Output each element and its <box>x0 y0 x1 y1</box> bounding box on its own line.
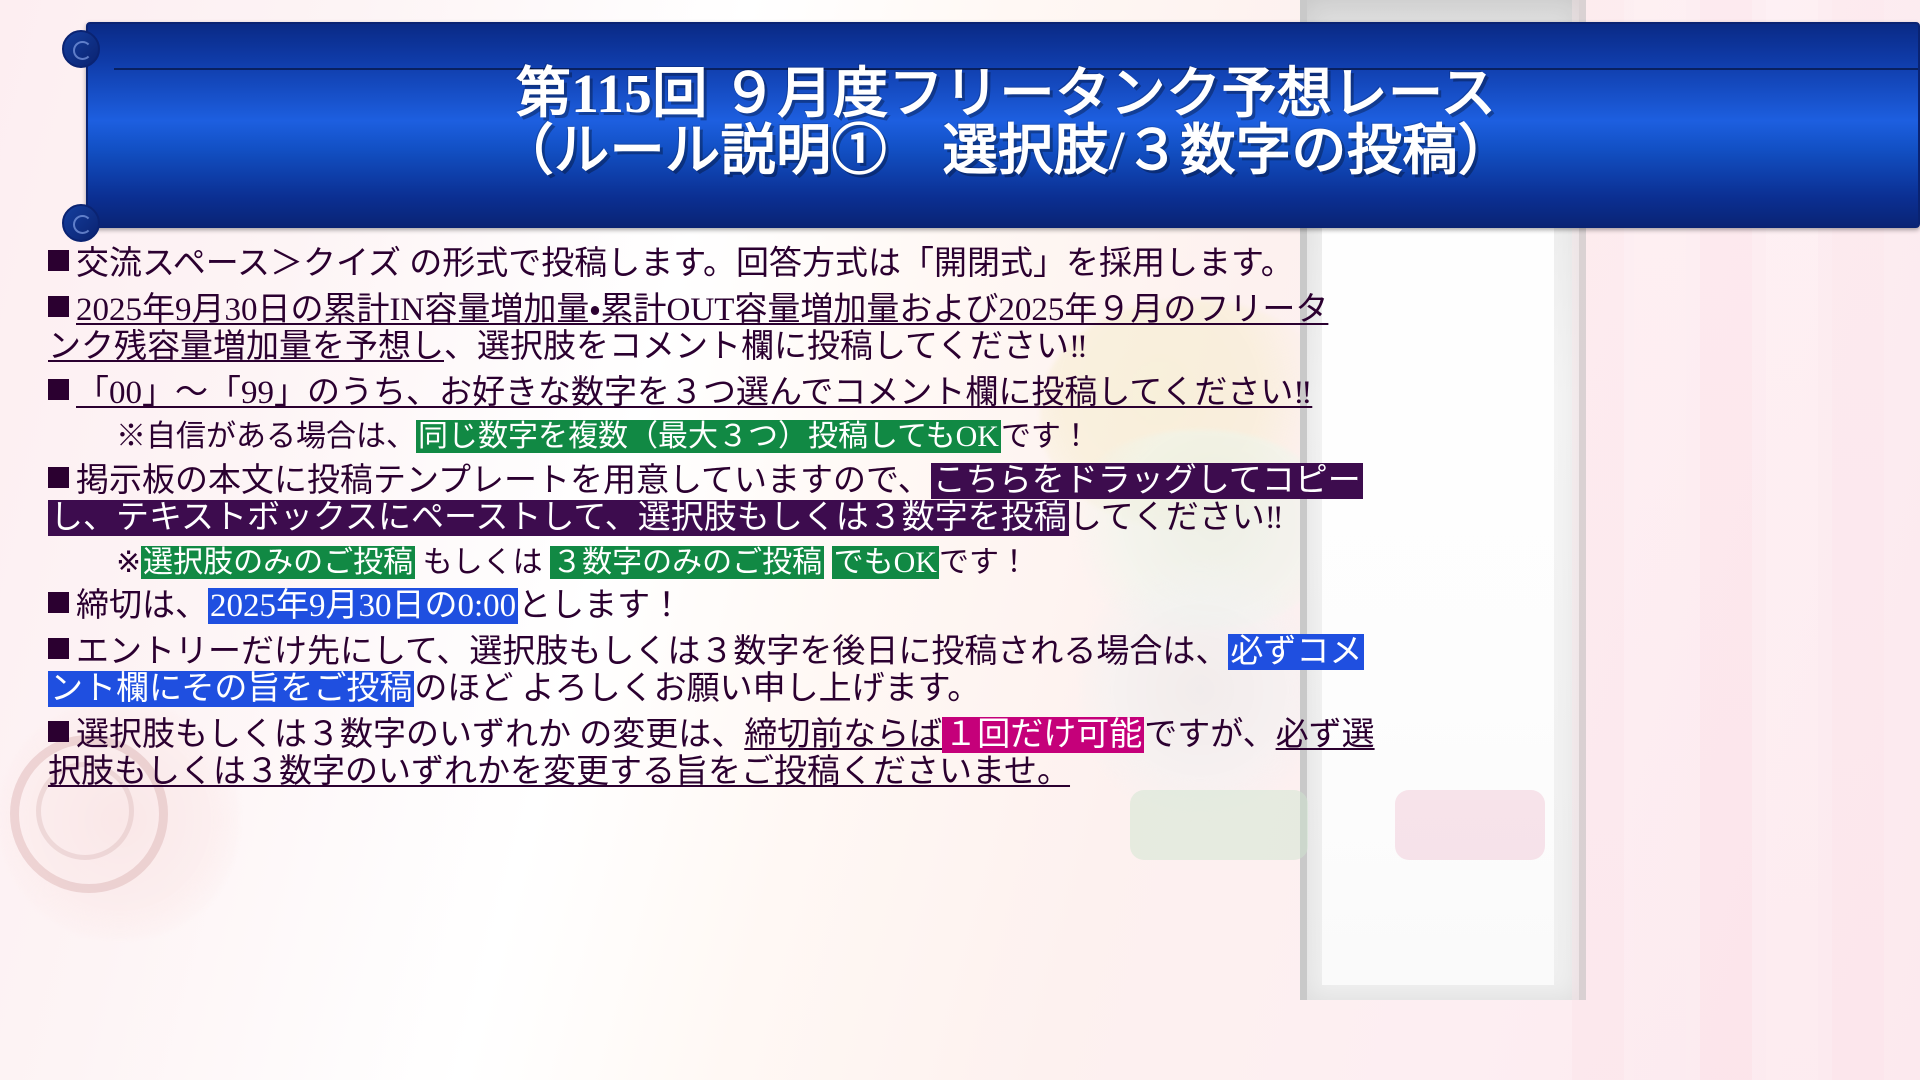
bullet-format: 交流スペース＞クイズ の形式で投稿します。回答方式は「開閉式」を採用します。 <box>0 246 1920 284</box>
bullet-change-rule-seg-2-1: 択肢もしくは３数字のいずれかを変更する旨をご投稿くださいませ。 <box>48 754 1070 790</box>
bullet-template-seg-2-2: してください‼ <box>1069 500 1284 536</box>
bullet-format-seg-1-1: 交流スペース＞クイズ の形式で投稿します。回答方式は「開閉式」を採用します。 <box>76 246 1294 282</box>
bullet-deadline-seg-1-2: 2025年9月30日の0:00 <box>208 588 518 624</box>
bullet-template-line-1: 掲示板の本文に投稿テンプレートを用意していますので、こちらをドラッグしてコピー <box>48 463 1902 501</box>
title-banner: 第115回 ９月度フリータンク予想レース （ルール説明① 選択肢/３数字の投稿） <box>62 16 1920 230</box>
banner-curl-top-icon <box>62 30 100 68</box>
bullet-entry-first-seg-1-2: 必ずコメ <box>1228 634 1364 670</box>
bullet-square-icon <box>48 379 69 400</box>
note-duplicate-numbers-seg-1-1: ※自信がある場合は、 <box>116 420 416 453</box>
note-partial-post-seg-1-4: ３数字のみのご投稿 <box>550 546 824 579</box>
note-partial-post-seg-1-5 <box>824 546 832 579</box>
bullet-change-rule-line-2: 択肢もしくは３数字のいずれかを変更する旨をご投稿くださいませ。 <box>48 754 1902 792</box>
note-partial-post-seg-1-1: ※ <box>116 546 141 579</box>
bullet-entry-first-line-1: エントリーだけ先にして、選択肢もしくは３数字を後日に投稿される場合は、必ずコメ <box>48 634 1902 672</box>
bullet-template-line-2: し、テキストボックスにペーストして、選択肢もしくは３数字を投稿してください‼ <box>48 500 1902 538</box>
bullet-square-icon <box>48 250 69 271</box>
bullet-entry-first-seg-1-1: エントリーだけ先にして、選択肢もしくは３数字を後日に投稿される場合は、 <box>76 634 1228 670</box>
note-duplicate-numbers-seg-1-2: 同じ数字を複数（最大３つ）投稿してもOK <box>416 420 1001 453</box>
note-duplicate-numbers-seg-1-3: です！ <box>1001 420 1091 453</box>
bullet-deadline-seg-1-1: 締切は、 <box>76 588 208 624</box>
bullet-template-seg-2-1: し、テキストボックスにペーストして、選択肢もしくは３数字を投稿 <box>48 500 1069 536</box>
bullet-template-seg-1-1: 掲示板の本文に投稿テンプレートを用意していますので、 <box>76 463 931 499</box>
bullet-deadline: 締切は、2025年9月30日の0:00とします！ <box>0 588 1920 626</box>
bullet-template: 掲示板の本文に投稿テンプレートを用意していますので、こちらをドラッグしてコピーし… <box>0 463 1920 538</box>
note-partial-post-line-1: ※選択肢のみのご投稿 もしくは ３数字のみのご投稿 でもOKです！ <box>116 546 1902 580</box>
bullet-entry-first-seg-2-1: ント欄にその旨をご投稿 <box>48 671 414 707</box>
bullet-square-icon <box>48 638 69 659</box>
bullet-deadline-seg-1-3: とします！ <box>518 588 683 624</box>
bullet-numbers-seg-1-1: 「00」～「99」のうち、お好きな数字を３つ選んでコメント欄に投稿してください‼ <box>76 375 1312 411</box>
note-partial-post-seg-1-2: 選択肢のみのご投稿 <box>141 546 415 579</box>
bullet-prediction-line-2: ンク残容量増加量を予想し、選択肢をコメント欄に投稿してください‼ <box>48 329 1902 367</box>
background-chip-green <box>1130 790 1308 860</box>
bullet-change-rule-seg-1-3: １回だけ可能 <box>942 717 1144 753</box>
note-duplicate-numbers-line-1: ※自信がある場合は、同じ数字を複数（最大３つ）投稿してもOKです！ <box>116 420 1902 454</box>
note-partial-post-seg-1-3: もしくは <box>415 546 550 579</box>
note-partial-post-seg-1-6: でもOK <box>832 546 939 579</box>
note-partial-post-seg-1-7: です！ <box>939 546 1029 579</box>
rules-body: 交流スペース＞クイズ の形式で投稿します。回答方式は「開閉式」を採用します。20… <box>0 246 1920 800</box>
bullet-entry-first-seg-2-2: のほど よろしくお願い申し上げます。 <box>414 671 980 707</box>
background-chip-pink <box>1395 790 1545 860</box>
bullet-prediction: 2025年9月30日の累計IN容量増加量・累計OUT容量増加量および2025年９… <box>0 292 1920 367</box>
bullet-format-line-1: 交流スペース＞クイズ の形式で投稿します。回答方式は「開閉式」を採用します。 <box>48 246 1902 284</box>
bullet-square-icon <box>48 296 69 317</box>
banner-title-line1: 第115回 ９月度フリータンク予想レース <box>516 65 1496 122</box>
note-duplicate-numbers: ※自信がある場合は、同じ数字を複数（最大３つ）投稿してもOKです！ <box>0 420 1920 454</box>
note-partial-post: ※選択肢のみのご投稿 もしくは ３数字のみのご投稿 でもOKです！ <box>0 546 1920 580</box>
bullet-entry-first-line-2: ント欄にその旨をご投稿のほど よろしくお願い申し上げます。 <box>48 671 1902 709</box>
bullet-change-rule-seg-1-5: 必ず選 <box>1276 717 1375 753</box>
bullet-change-rule: 選択肢もしくは３数字のいずれか の変更は、締切前ならば１回だけ可能ですが、必ず選… <box>0 717 1920 792</box>
bullet-numbers: 「00」～「99」のうち、お好きな数字を３つ選んでコメント欄に投稿してください‼ <box>0 375 1920 413</box>
bullet-square-icon <box>48 721 69 742</box>
bullet-numbers-line-1: 「00」～「99」のうち、お好きな数字を３つ選んでコメント欄に投稿してください‼ <box>48 375 1902 413</box>
bullet-prediction-line-1: 2025年9月30日の累計IN容量増加量・累計OUT容量増加量および2025年９… <box>48 292 1902 330</box>
bullet-change-rule-line-1: 選択肢もしくは３数字のいずれか の変更は、締切前ならば１回だけ可能ですが、必ず選 <box>48 717 1902 755</box>
bullet-change-rule-seg-1-2: 締切前ならば <box>744 717 942 753</box>
bullet-deadline-line-1: 締切は、2025年9月30日の0:00とします！ <box>48 588 1902 626</box>
bullet-prediction-seg-1-1: 2025年9月30日の累計IN容量増加量・累計OUT容量増加量および2025年９… <box>76 292 1328 328</box>
bullet-square-icon <box>48 592 69 613</box>
bullet-change-rule-seg-1-4: ですが、 <box>1144 717 1275 753</box>
banner-curl-bottom-icon <box>62 204 100 242</box>
bullet-prediction-seg-2-2: 、選択肢をコメント欄に投稿してください‼ <box>444 329 1088 365</box>
bullet-prediction-seg-2-1: ンク残容量増加量を予想し <box>48 329 444 365</box>
banner-title-line2: （ルール説明① 選択肢/３数字の投稿） <box>499 122 1514 179</box>
bullet-change-rule-seg-1-1: 選択肢もしくは３数字のいずれか の変更は、 <box>76 717 744 753</box>
bullet-square-icon <box>48 467 69 488</box>
bullet-entry-first: エントリーだけ先にして、選択肢もしくは３数字を後日に投稿される場合は、必ずコメン… <box>0 634 1920 709</box>
banner-title-text: 第115回 ９月度フリータンク予想レース （ルール説明① 選択肢/３数字の投稿） <box>102 22 1910 222</box>
bullet-template-seg-1-2: こちらをドラッグしてコピー <box>931 463 1363 499</box>
